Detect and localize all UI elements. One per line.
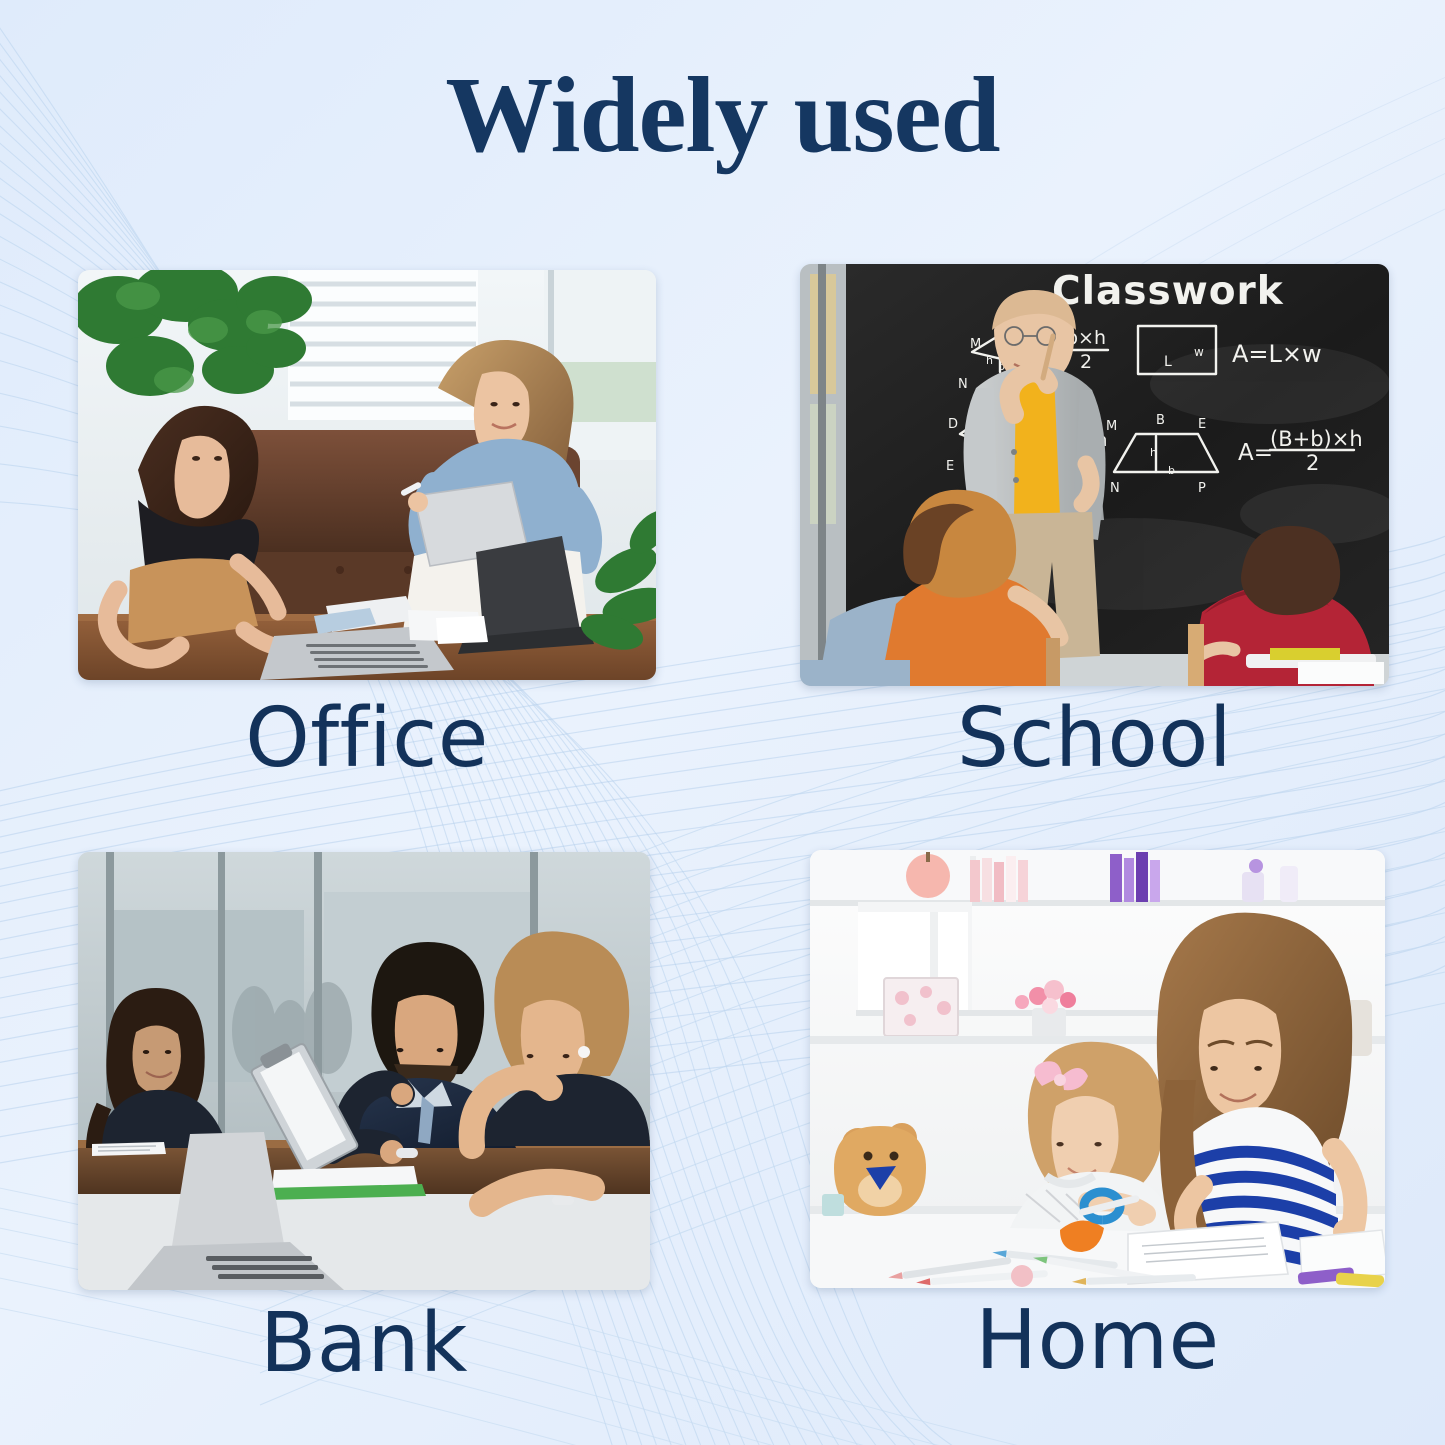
widely-used-panel: Widely used <box>0 0 1445 1445</box>
caption-office: Office <box>78 698 656 780</box>
svg-text:Classwork: Classwork <box>1052 269 1284 314</box>
svg-text:A=L×w: A=L×w <box>1232 340 1322 368</box>
svg-text:N: N <box>958 377 968 392</box>
svg-text:D: D <box>948 417 958 432</box>
svg-text:L: L <box>1164 354 1172 370</box>
svg-text:2: 2 <box>1306 451 1319 475</box>
svg-text:P: P <box>1198 481 1206 496</box>
svg-text:(B+b)×h: (B+b)×h <box>1270 427 1363 451</box>
svg-text:M: M <box>970 337 981 352</box>
svg-text:N: N <box>1110 481 1120 496</box>
svg-text:M: M <box>1106 419 1117 434</box>
photo-home <box>810 850 1385 1288</box>
caption-school: School <box>800 698 1389 780</box>
svg-text:B: B <box>1156 413 1165 428</box>
caption-bank: Bank <box>78 1303 650 1385</box>
svg-text:w: w <box>1194 345 1204 359</box>
svg-text:h: h <box>1150 446 1157 459</box>
photo-office <box>78 270 656 680</box>
photo-bank <box>78 852 650 1290</box>
caption-home: Home <box>810 1300 1385 1382</box>
svg-text:b: b <box>1168 464 1175 477</box>
svg-text:E: E <box>946 459 954 474</box>
page-title: Widely used <box>0 62 1445 170</box>
svg-text:E: E <box>1198 417 1206 432</box>
svg-text:A=: A= <box>1238 440 1273 466</box>
svg-text:h: h <box>986 354 993 367</box>
photo-school: Classwork M h b N = b×h 2 L w A=L×w D h … <box>800 264 1389 686</box>
svg-text:2: 2 <box>1080 351 1092 373</box>
